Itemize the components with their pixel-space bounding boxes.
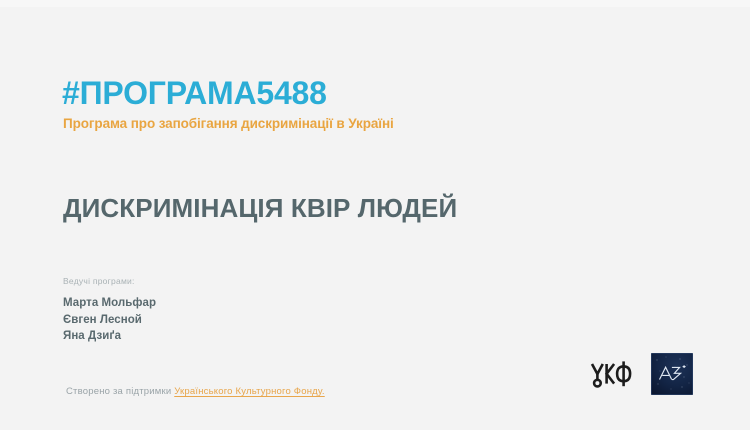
- program-branding: #ПРОГРАМА5488 Програма про запобігання д…: [62, 74, 394, 132]
- funding-credit-prefix: Створено за підтримки: [66, 386, 174, 397]
- presentation-slide: #ПРОГРАМА5488 Програма про запобігання д…: [0, 0, 750, 430]
- hosts-block: Ведучі програми: Марта Мольфар Євген Лес…: [63, 276, 156, 345]
- abc-logo-icon: [651, 353, 693, 395]
- program-hashtag-title: #ПРОГРАМА5488: [62, 74, 394, 112]
- ukf-logo-icon: [588, 352, 632, 396]
- list-item: Марта Мольфар: [63, 295, 156, 312]
- program-subtitle: Програма про запобігання дискримінації в…: [63, 115, 394, 132]
- list-item: Яна Дзиґа: [63, 328, 156, 345]
- hosts-label: Ведучі програми:: [63, 276, 156, 287]
- hosts-list: Марта Мольфар Євген Лесной Яна Дзиґа: [63, 295, 156, 345]
- partner-logos: [588, 352, 693, 396]
- episode-topic-heading: ДИСКРИМІНАЦІЯ КВІР ЛЮДЕЙ: [63, 192, 457, 224]
- list-item: Євген Лесной: [63, 312, 156, 329]
- funding-credit-link[interactable]: Українського Культурного Фонду.: [174, 386, 325, 397]
- funding-credit: Створено за підтримки Українського Культ…: [66, 385, 325, 398]
- top-edge-strip: [0, 0, 750, 7]
